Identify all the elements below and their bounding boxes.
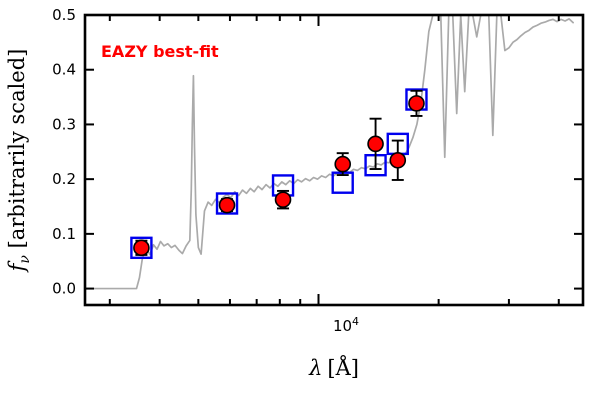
x-axis-label: λ[Å] — [308, 355, 359, 380]
observed-photometry-points — [134, 91, 424, 256]
sed-plot: 0.00.10.20.30.40.5 104 λ[Å] fν [arbitrar… — [0, 0, 600, 400]
model-photometry-squares — [131, 90, 426, 258]
y-tick-label: 0.2 — [52, 170, 76, 188]
y-axis-label: fν [arbitrarily scaled] — [5, 49, 33, 274]
x-tick-label-1e4: 104 — [333, 315, 359, 335]
y-tick-label: 0.5 — [52, 6, 76, 24]
observed-photometry-point — [276, 192, 291, 207]
y-axis-tick-labels: 0.00.10.20.30.40.5 — [52, 6, 76, 298]
observed-photometry-point — [335, 157, 350, 172]
x-tick-label-exponent: 4 — [352, 315, 359, 328]
observed-photometry-point — [368, 136, 383, 151]
observed-photometry-point — [409, 96, 424, 111]
y-tick-label: 0.0 — [52, 280, 76, 298]
y-tick-label: 0.1 — [52, 225, 76, 243]
y-tick-label: 0.4 — [52, 61, 76, 79]
observed-photometry-point — [220, 198, 235, 213]
y-axis-label-rest: [arbitrarily scaled] — [5, 49, 29, 255]
x-axis-label-lambda: λ — [308, 356, 322, 380]
observed-photometry-point — [134, 240, 149, 255]
observed-photometry-point — [390, 153, 405, 168]
x-tick-label-base: 10 — [333, 317, 352, 335]
y-tick-label: 0.3 — [52, 115, 76, 133]
x-axis-label-unit: [Å] — [327, 355, 359, 380]
figure-canvas: 0.00.10.20.30.40.5 104 λ[Å] fν [arbitrar… — [0, 0, 600, 400]
annotation-eazy-best-fit: EAZY best-fit — [101, 42, 219, 61]
